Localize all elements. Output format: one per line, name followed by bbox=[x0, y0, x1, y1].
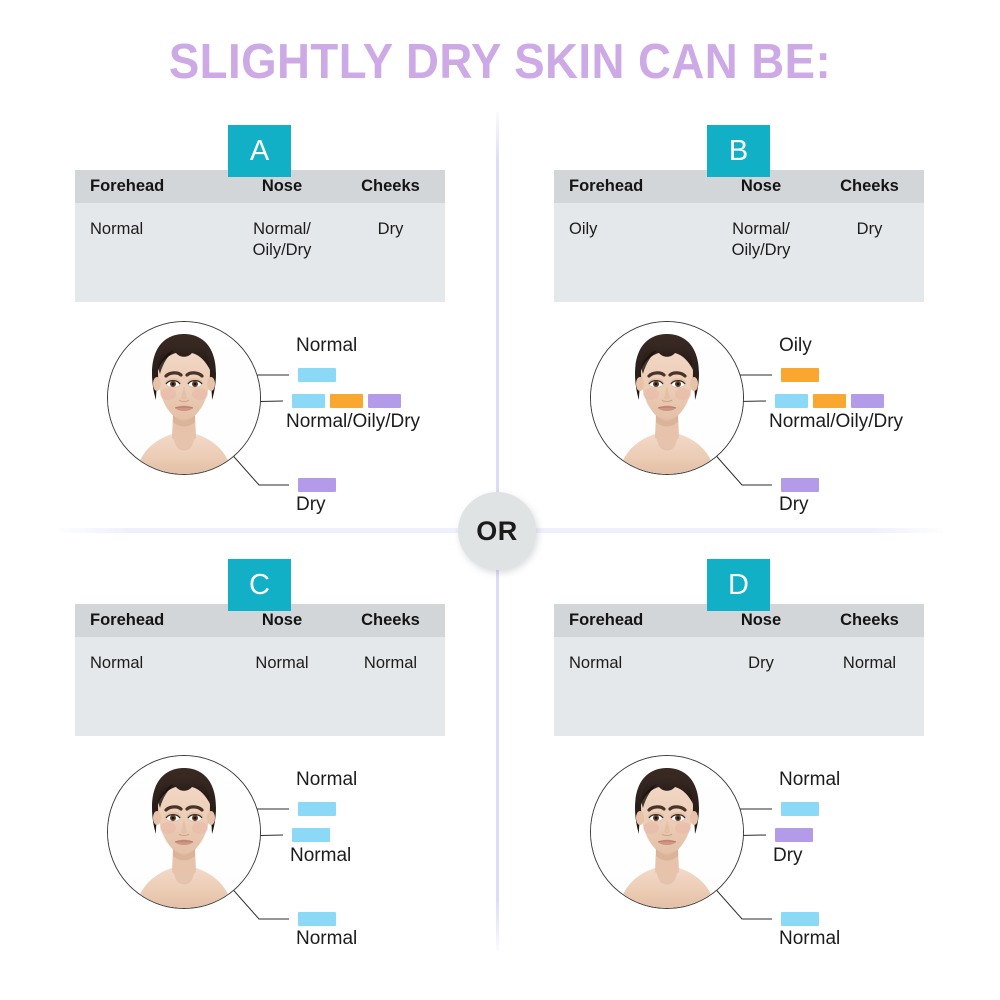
table-data-row: NormalNormal/Oily/DryDry bbox=[75, 203, 445, 302]
table-header-nose: Nose bbox=[222, 610, 342, 631]
panel-d: D ForeheadNoseCheeks NormalDryNormal bbox=[554, 559, 934, 939]
face-circle-c bbox=[107, 755, 261, 909]
face-diagram-d: NormalDryNormal bbox=[582, 747, 1000, 952]
table-header-nose: Nose bbox=[701, 176, 821, 197]
swatch-oily bbox=[781, 368, 819, 382]
table-cell-cheeks: Normal bbox=[342, 653, 445, 674]
swatch-normal bbox=[298, 802, 336, 816]
swatch-normal bbox=[298, 368, 336, 382]
callout-swatches-cheek bbox=[781, 478, 819, 492]
swatch-normal bbox=[292, 394, 325, 408]
table-data-row: NormalNormalNormal bbox=[75, 637, 445, 736]
callout-label-cheek: Normal bbox=[296, 928, 357, 950]
callout-swatches-nose bbox=[775, 394, 884, 408]
callout-swatches-cheek bbox=[298, 912, 336, 926]
table-header-nose: Nose bbox=[222, 176, 342, 197]
callout-label-cheek: Dry bbox=[779, 494, 809, 516]
table-header-cheeks: Cheeks bbox=[342, 610, 445, 631]
table-header-cheeks: Cheeks bbox=[821, 610, 924, 631]
table-header-nose: Nose bbox=[701, 610, 821, 631]
callout-swatches-forehead bbox=[298, 368, 336, 382]
swatch-normal bbox=[292, 828, 330, 842]
callout-label-cheek: Dry bbox=[296, 494, 326, 516]
swatch-dry bbox=[775, 828, 813, 842]
table-header-forehead: Forehead bbox=[554, 610, 701, 631]
face-circle-b bbox=[590, 321, 744, 475]
panel-badge-b: B bbox=[707, 125, 770, 177]
table-data-row: OilyNormal/Oily/DryDry bbox=[554, 203, 924, 302]
page-title: SLIGHTLY DRY SKIN CAN BE: bbox=[35, 34, 965, 90]
table-header-forehead: Forehead bbox=[554, 176, 701, 197]
panel-a: A ForeheadNoseCheeks NormalNormal/Oily/D… bbox=[75, 125, 455, 505]
callout-label-nose: Dry bbox=[773, 845, 803, 867]
callout-swatches-cheek bbox=[781, 912, 819, 926]
swatch-oily bbox=[813, 394, 846, 408]
table-cell-cheeks: Dry bbox=[342, 219, 445, 240]
table-cell-nose: Normal/Oily/Dry bbox=[701, 219, 821, 261]
callout-label-forehead: Oily bbox=[779, 335, 812, 357]
callout-label-nose: Normal bbox=[290, 845, 351, 867]
swatch-normal bbox=[781, 802, 819, 816]
callout-swatches-forehead bbox=[298, 802, 336, 816]
face-diagram-b: OilyNormal/Oily/DryDry bbox=[582, 313, 1000, 518]
table-cell-forehead: Normal bbox=[75, 653, 222, 674]
callout-swatches-forehead bbox=[781, 802, 819, 816]
callout-swatches-nose bbox=[775, 828, 813, 842]
face-photo bbox=[591, 756, 743, 908]
panel-c: C ForeheadNoseCheeks NormalNormalNormal bbox=[75, 559, 455, 939]
face-circle-d bbox=[590, 755, 744, 909]
table-header-cheeks: Cheeks bbox=[821, 176, 924, 197]
table-header-cheeks: Cheeks bbox=[342, 176, 445, 197]
table-c: ForeheadNoseCheeks NormalNormalNormal bbox=[75, 604, 445, 736]
callout-label-cheek: Normal bbox=[779, 928, 840, 950]
table-cell-cheeks: Dry bbox=[821, 219, 924, 240]
swatch-oily bbox=[330, 394, 363, 408]
callout-label-forehead: Normal bbox=[296, 335, 357, 357]
swatch-dry bbox=[851, 394, 884, 408]
swatch-dry bbox=[368, 394, 401, 408]
callout-label-forehead: Normal bbox=[296, 769, 357, 791]
callout-swatches-nose bbox=[292, 394, 401, 408]
callout-swatches-forehead bbox=[781, 368, 819, 382]
face-photo bbox=[591, 322, 743, 474]
swatch-normal bbox=[298, 912, 336, 926]
panel-b: B ForeheadNoseCheeks OilyNormal/Oily/Dry… bbox=[554, 125, 934, 505]
face-diagram-c: NormalNormalNormal bbox=[99, 747, 519, 952]
face-photo bbox=[108, 756, 260, 908]
table-cell-nose: Normal/Oily/Dry bbox=[222, 219, 342, 261]
face-photo bbox=[108, 322, 260, 474]
swatch-normal bbox=[781, 912, 819, 926]
table-cell-nose: Normal bbox=[222, 653, 342, 674]
table-cell-forehead: Normal bbox=[554, 653, 701, 674]
swatch-dry bbox=[298, 478, 336, 492]
table-cell-cheeks: Normal bbox=[821, 653, 924, 674]
table-cell-nose: Dry bbox=[701, 653, 821, 674]
table-b: ForeheadNoseCheeks OilyNormal/Oily/DryDr… bbox=[554, 170, 924, 302]
callout-label-nose: Normal/Oily/Dry bbox=[769, 411, 903, 433]
callout-swatches-cheek bbox=[298, 478, 336, 492]
table-a: ForeheadNoseCheeks NormalNormal/Oily/Dry… bbox=[75, 170, 445, 302]
panel-badge-d: D bbox=[707, 559, 770, 611]
table-cell-forehead: Oily bbox=[554, 219, 701, 240]
face-circle-a bbox=[107, 321, 261, 475]
table-data-row: NormalDryNormal bbox=[554, 637, 924, 736]
callout-label-nose: Normal/Oily/Dry bbox=[286, 411, 420, 433]
callout-label-forehead: Normal bbox=[779, 769, 840, 791]
panel-badge-c: C bbox=[228, 559, 291, 611]
or-badge: OR bbox=[458, 492, 536, 570]
swatch-dry bbox=[781, 478, 819, 492]
callout-swatches-nose bbox=[292, 828, 330, 842]
table-header-forehead: Forehead bbox=[75, 610, 222, 631]
panel-badge-a: A bbox=[228, 125, 291, 177]
swatch-normal bbox=[775, 394, 808, 408]
table-header-forehead: Forehead bbox=[75, 176, 222, 197]
table-cell-forehead: Normal bbox=[75, 219, 222, 240]
face-diagram-a: NormalNormal/Oily/DryDry bbox=[99, 313, 519, 518]
table-d: ForeheadNoseCheeks NormalDryNormal bbox=[554, 604, 924, 736]
